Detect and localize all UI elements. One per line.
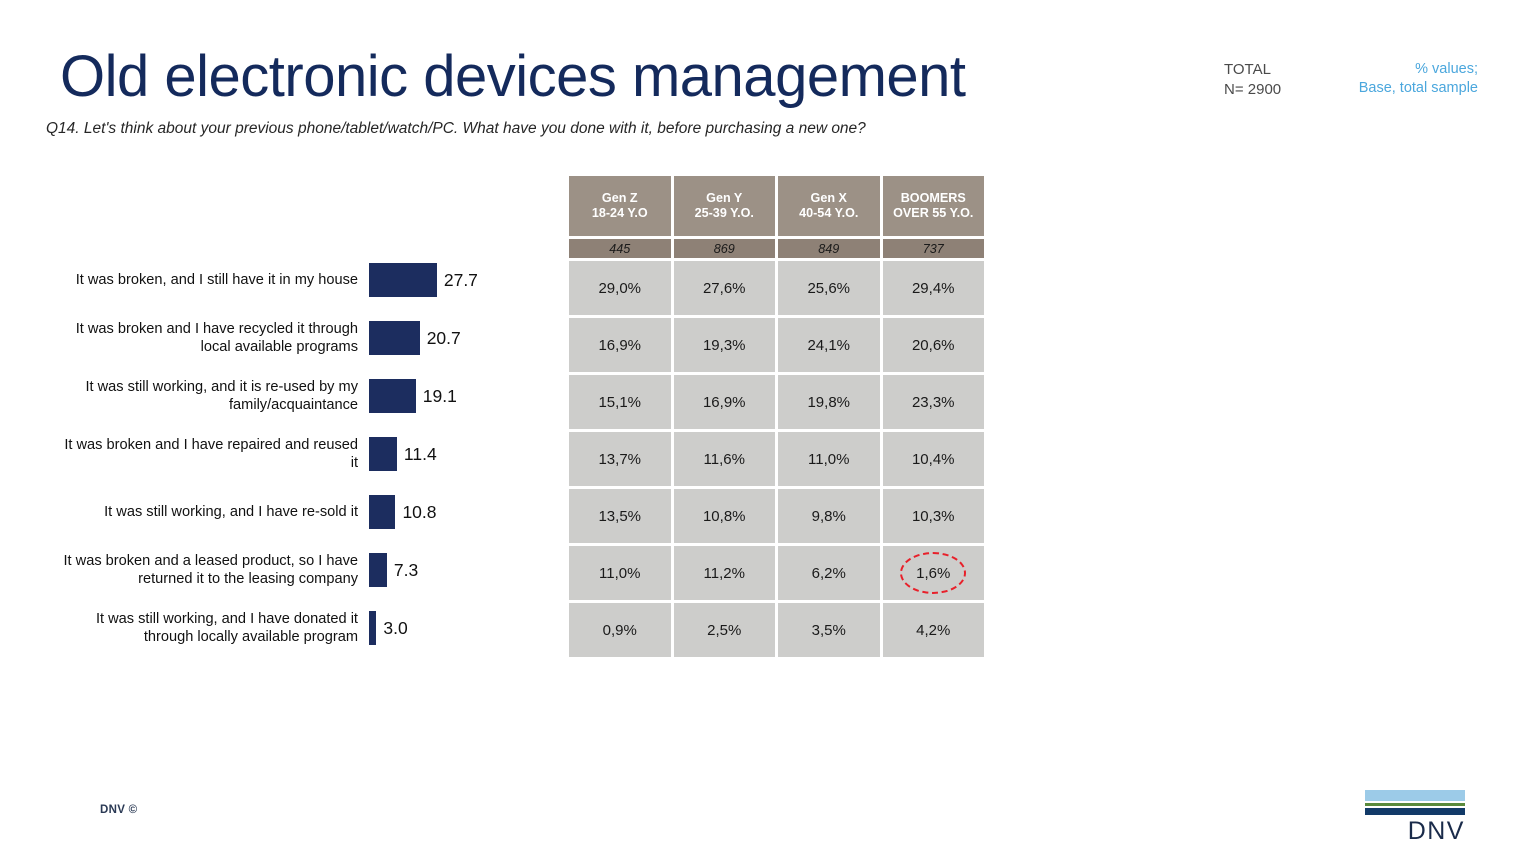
bar-value-label: 19.1 <box>423 386 457 407</box>
bar-chart: It was broken, and I still have it in my… <box>0 251 520 657</box>
table-cell-value: 9,8% <box>812 508 846 525</box>
total-label: TOTAL <box>1224 60 1281 80</box>
bar-fill <box>369 321 420 355</box>
table-cell-value: 11,2% <box>704 565 745 582</box>
table-cell-value: 20,6% <box>912 337 955 354</box>
table-cell-value: 13,5% <box>598 508 641 525</box>
table-cell: 6,2% <box>778 546 880 600</box>
bar-row: It was broken and a leased product, so I… <box>0 541 520 599</box>
question-subtitle: Q14. Let's think about your previous pho… <box>46 120 866 138</box>
bar-category-label: It was broken, and I still have it in my… <box>58 271 358 289</box>
table-cell-value: 10,4% <box>912 451 955 468</box>
bar-value-label: 11.4 <box>404 444 437 465</box>
column-header-name: Gen Z <box>592 191 648 206</box>
total-sample-block: TOTAL N= 2900 <box>1224 60 1281 100</box>
table-cell: 16,9% <box>674 375 776 429</box>
table-cell: 11,0% <box>569 546 671 600</box>
table-cell-value: 4,2% <box>916 622 950 639</box>
table-row: 11,0%11,2%6,2%1,6% <box>569 546 984 600</box>
bar-track: 10.8 <box>369 483 437 541</box>
bar-row: It was still working, and I have donated… <box>0 599 520 657</box>
logo-bar-green <box>1365 803 1465 806</box>
bar-fill <box>369 437 397 471</box>
table-cell-value: 16,9% <box>598 337 641 354</box>
table-cell-value: 16,9% <box>703 394 746 411</box>
table-cell: 16,9% <box>569 318 671 372</box>
table-cell: 11,0% <box>778 432 880 486</box>
table-cell: 25,6% <box>778 261 880 315</box>
bar-row: It was still working, and it is re-used … <box>0 367 520 425</box>
table-cell-value: 25,6% <box>807 280 850 297</box>
bar-category-label: It was still working, and I have donated… <box>58 610 358 646</box>
table-cell: 10,3% <box>883 489 985 543</box>
bar-track: 27.7 <box>369 251 478 309</box>
bar-category-label: It was still working, and it is re-used … <box>58 378 358 414</box>
generation-breakdown-table: Gen Z18-24 Y.OGen Y25-39 Y.O.Gen X40-54 … <box>569 176 984 660</box>
bar-category-label: It was broken and a leased product, so I… <box>58 552 358 588</box>
footer-copyright: DNV © <box>100 804 137 816</box>
table-base-row: 445869849737 <box>569 239 984 258</box>
bar-row: It was broken, and I still have it in my… <box>0 251 520 309</box>
table-cell-value: 0,9% <box>603 622 637 639</box>
table-cell: 10,8% <box>674 489 776 543</box>
table-cell-value: 1,6% <box>916 565 950 582</box>
column-header-text: BOOMERSOVER 55 Y.O. <box>893 191 973 221</box>
table-cell: 3,5% <box>778 603 880 657</box>
column-header-text: Gen X40-54 Y.O. <box>799 191 858 221</box>
bar-fill <box>369 553 387 587</box>
base-note-values: % values; <box>1359 60 1478 79</box>
table-cell-value: 10,3% <box>912 508 955 525</box>
bar-value-label: 27.7 <box>444 270 478 291</box>
bar-fill <box>369 379 416 413</box>
table-cell: 19,3% <box>674 318 776 372</box>
bar-row: It was broken and I have repaired and re… <box>0 425 520 483</box>
table-cell-value: 15,1% <box>598 394 641 411</box>
logo-wordmark: DNV <box>1365 818 1465 844</box>
column-header-text: Gen Z18-24 Y.O <box>592 191 648 221</box>
bar-value-label: 10.8 <box>402 502 436 523</box>
table-column-header: Gen X40-54 Y.O. <box>778 176 880 236</box>
table-cell: 15,1% <box>569 375 671 429</box>
bar-row: It was broken and I have recycled it thr… <box>0 309 520 367</box>
bar-track: 11.4 <box>369 425 437 483</box>
table-cell-value: 11,0% <box>808 451 849 468</box>
table-base-size: 445 <box>569 239 671 258</box>
table-row: 29,0%27,6%25,6%29,4% <box>569 261 984 315</box>
table-cell: 19,8% <box>778 375 880 429</box>
table-base-size: 849 <box>778 239 880 258</box>
table-row: 0,9%2,5%3,5%4,2% <box>569 603 984 657</box>
table-cell-value: 29,0% <box>598 280 641 297</box>
bar-value-label: 3.0 <box>383 618 407 639</box>
table-cell-value: 13,7% <box>598 451 641 468</box>
column-header-age: 18-24 Y.O <box>592 206 648 221</box>
logo-bar-navy <box>1365 808 1465 815</box>
bar-fill <box>369 263 437 297</box>
table-header-row: Gen Z18-24 Y.OGen Y25-39 Y.O.Gen X40-54 … <box>569 176 984 236</box>
table-base-size: 869 <box>674 239 776 258</box>
bar-track: 3.0 <box>369 599 408 657</box>
table-cell-value: 23,3% <box>912 394 955 411</box>
table-column-header: BOOMERSOVER 55 Y.O. <box>883 176 985 236</box>
table-row: 13,7%11,6%11,0%10,4% <box>569 432 984 486</box>
table-cell: 29,4% <box>883 261 985 315</box>
table-cell-value: 29,4% <box>912 280 955 297</box>
column-header-age: 40-54 Y.O. <box>799 206 858 221</box>
table-cell: 4,2% <box>883 603 985 657</box>
page-title: Old electronic devices management <box>60 48 966 106</box>
bar-track: 20.7 <box>369 309 461 367</box>
table-cell: 13,7% <box>569 432 671 486</box>
total-value: N= 2900 <box>1224 80 1281 100</box>
dnv-logo: DNV <box>1365 790 1465 844</box>
table-cell: 24,1% <box>778 318 880 372</box>
table-cell: 2,5% <box>674 603 776 657</box>
bar-fill <box>369 495 395 529</box>
column-header-name: Gen Y <box>695 191 754 206</box>
logo-bar-light-blue <box>1365 790 1465 801</box>
table-cell-value: 27,6% <box>703 280 746 297</box>
column-header-name: Gen X <box>799 191 858 206</box>
table-cell: 10,4% <box>883 432 985 486</box>
bar-value-label: 7.3 <box>394 560 418 581</box>
column-header-age: OVER 55 Y.O. <box>893 206 973 221</box>
table-cell-value: 24,1% <box>807 337 850 354</box>
bar-value-label: 20.7 <box>427 328 461 349</box>
column-header-age: 25-39 Y.O. <box>695 206 754 221</box>
bar-category-label: It was broken and I have repaired and re… <box>58 436 358 472</box>
table-cell-value: 11,6% <box>704 451 745 468</box>
table-cell: 29,0% <box>569 261 671 315</box>
table-cell-value: 3,5% <box>812 622 846 639</box>
table-cell-value: 10,8% <box>703 508 746 525</box>
table-cell-value: 11,0% <box>599 565 640 582</box>
table-cell: 9,8% <box>778 489 880 543</box>
table-column-header: Gen Y25-39 Y.O. <box>674 176 776 236</box>
table-row: 15,1%16,9%19,8%23,3% <box>569 375 984 429</box>
table-base-size: 737 <box>883 239 985 258</box>
table-cell: 20,6% <box>883 318 985 372</box>
bar-track: 7.3 <box>369 541 418 599</box>
table-cell: 11,6% <box>674 432 776 486</box>
table-row: 13,5%10,8%9,8%10,3% <box>569 489 984 543</box>
table-cell-value: 6,2% <box>812 565 846 582</box>
table-cell: 11,2% <box>674 546 776 600</box>
table-column-header: Gen Z18-24 Y.O <box>569 176 671 236</box>
table-cell-value: 2,5% <box>707 622 741 639</box>
column-header-name: BOOMERS <box>893 191 973 206</box>
bar-fill <box>369 611 376 645</box>
bar-track: 19.1 <box>369 367 457 425</box>
table-cell: 0,9% <box>569 603 671 657</box>
table-cell: 13,5% <box>569 489 671 543</box>
bar-category-label: It was still working, and I have re-sold… <box>58 503 358 521</box>
base-note-block: % values; Base, total sample <box>1359 60 1478 99</box>
bar-row: It was still working, and I have re-sold… <box>0 483 520 541</box>
bar-category-label: It was broken and I have recycled it thr… <box>58 320 358 356</box>
table-cell: 27,6% <box>674 261 776 315</box>
table-cell-value: 19,3% <box>703 337 746 354</box>
column-header-text: Gen Y25-39 Y.O. <box>695 191 754 221</box>
base-note-sample: Base, total sample <box>1359 79 1478 98</box>
table-row: 16,9%19,3%24,1%20,6% <box>569 318 984 372</box>
table-cell: 1,6% <box>883 546 985 600</box>
table-cell: 23,3% <box>883 375 985 429</box>
table-cell-value: 19,8% <box>807 394 850 411</box>
